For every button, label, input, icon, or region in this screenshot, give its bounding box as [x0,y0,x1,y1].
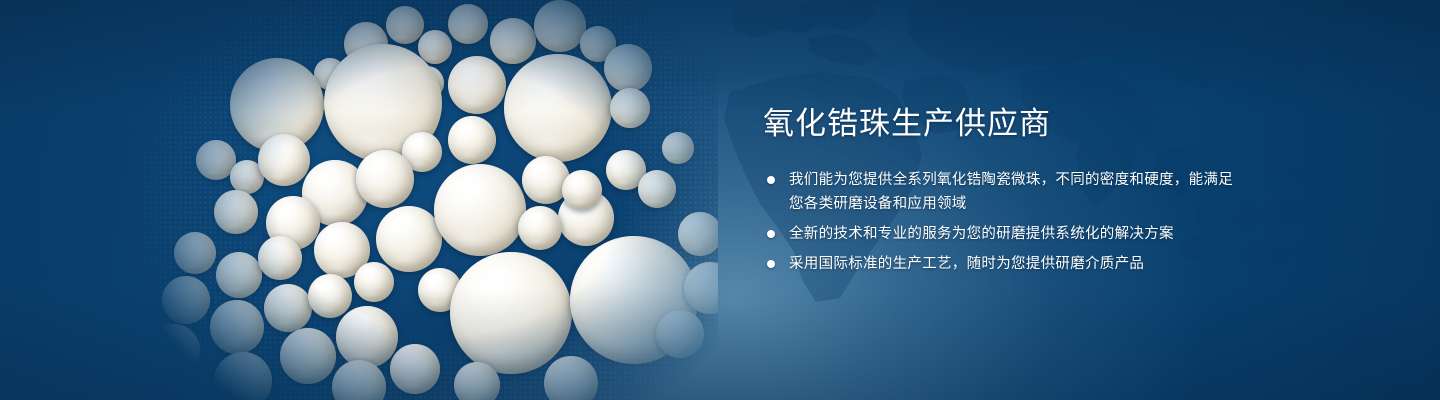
filled-circle-bullet-icon [767,176,775,184]
hero-banner: 氧化锆珠生产供应商 我们能为您提供全系列氧化锆陶瓷微珠，不同的密度和硬度，能满足… [0,0,1440,400]
list-item-label: 我们能为您提供全系列氧化锆陶瓷微珠，不同的密度和硬度，能满足您各类研磨设备和应用… [789,172,1233,212]
list-item: 全新的技术和专业的服务为您的研磨提供系统化的解决方案 [763,222,1233,246]
page-title: 氧化锆珠生产供应商 [763,104,1233,144]
list-item: 我们能为您提供全系列氧化锆陶瓷微珠，不同的密度和硬度，能满足您各类研磨设备和应用… [763,168,1233,216]
banner-copy: 氧化锆珠生产供应商 我们能为您提供全系列氧化锆陶瓷微珠，不同的密度和硬度，能满足… [763,104,1233,276]
filled-circle-bullet-icon [767,230,775,238]
list-item-label: 采用国际标准的生产工艺，随时为您提供研磨介质产品 [789,256,1144,272]
list-item: 采用国际标准的生产工艺，随时为您提供研磨介质产品 [763,252,1233,276]
list-item-label: 全新的技术和专业的服务为您的研磨提供系统化的解决方案 [789,226,1174,242]
feature-list: 我们能为您提供全系列氧化锆陶瓷微珠，不同的密度和硬度，能满足您各类研磨设备和应用… [763,168,1233,276]
filled-circle-bullet-icon [767,260,775,268]
